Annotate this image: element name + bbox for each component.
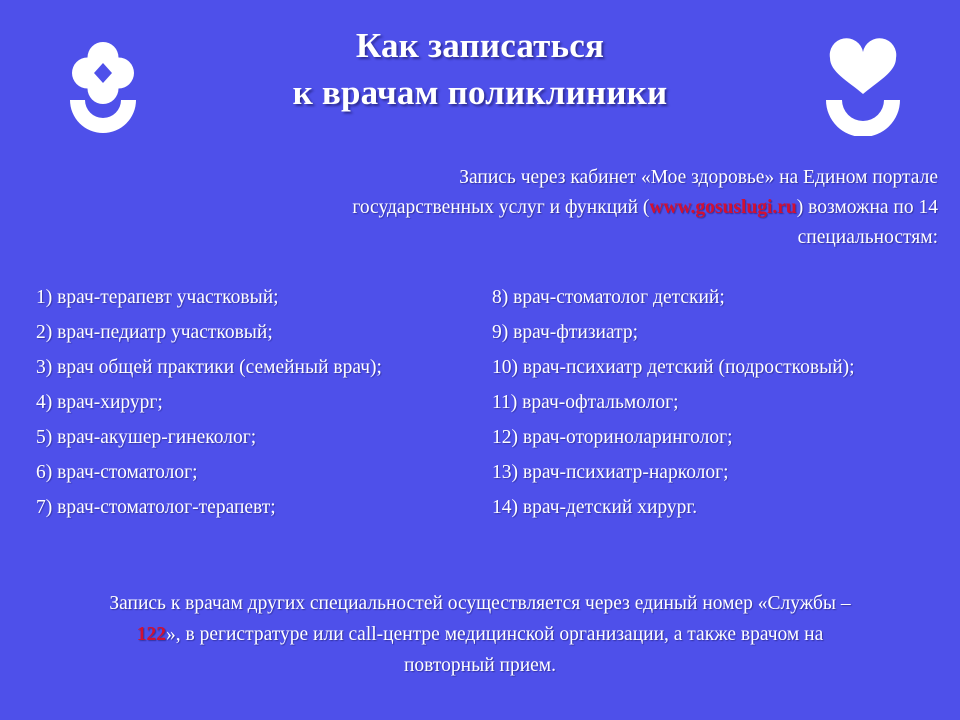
list-item: 7) врач-стоматолог-терапевт; xyxy=(36,498,486,533)
poster-header: Как записаться к врачам поликлиники xyxy=(0,0,960,150)
list-item: 4) врач-хирург; xyxy=(36,393,486,428)
footer-text-part-2: », в регистратуре или call-центре медици… xyxy=(166,624,823,676)
footer-paragraph: Запись к врачам других специальностей ос… xyxy=(100,588,860,681)
specialty-column-right: 8) врач-стоматолог детский; 9) врач-фтиз… xyxy=(492,288,947,533)
gosuslugi-link[interactable]: www.gosuslugi.ru xyxy=(649,197,796,218)
title-line-2: к врачам поликлиники xyxy=(180,69,780,116)
list-item: 6) врач-стоматолог; xyxy=(36,463,486,498)
list-item: 12) врач-оториноларинголог; xyxy=(492,428,947,463)
poster-root: Как записаться к врачам поликлиники Запи… xyxy=(0,0,960,720)
list-item: 8) врач-стоматолог детский; xyxy=(492,288,947,323)
specialty-list: 1) врач-терапевт участковый; 2) врач-пед… xyxy=(0,288,960,538)
specialty-column-left: 1) врач-терапевт участковый; 2) врач-пед… xyxy=(36,288,486,533)
list-item: 2) врач-педиатр участковый; xyxy=(36,323,486,358)
list-item: 13) врач-психиатр-нарколог; xyxy=(492,463,947,498)
list-item: 10) врач-психиатр детский (подростковый)… xyxy=(492,358,947,393)
list-item: 11) врач-офтальмолог; xyxy=(492,393,947,428)
list-item: 3) врач общей практики (семейный врач); xyxy=(36,358,486,393)
quatrefoil-flower-smile-logo xyxy=(48,36,158,136)
list-item: 1) врач-терапевт участковый; xyxy=(36,288,486,323)
page-title: Как записаться к врачам поликлиники xyxy=(180,22,780,116)
intro-paragraph: Запись через кабинет «Мое здоровье» на Е… xyxy=(340,163,938,253)
list-item: 5) врач-акушер-гинеколог; xyxy=(36,428,486,463)
intro-text-part-2: ) возможна по 14 специальностям: xyxy=(797,197,938,248)
list-item: 14) врач-детский хирург. xyxy=(492,498,947,533)
hotline-number: 122 xyxy=(137,624,166,645)
footer-text-part-1: Запись к врачам других специальностей ос… xyxy=(109,593,850,614)
title-line-1: Как записаться xyxy=(180,22,780,69)
heart-smile-logo xyxy=(808,36,918,136)
list-item: 9) врач-фтизиатр; xyxy=(492,323,947,358)
